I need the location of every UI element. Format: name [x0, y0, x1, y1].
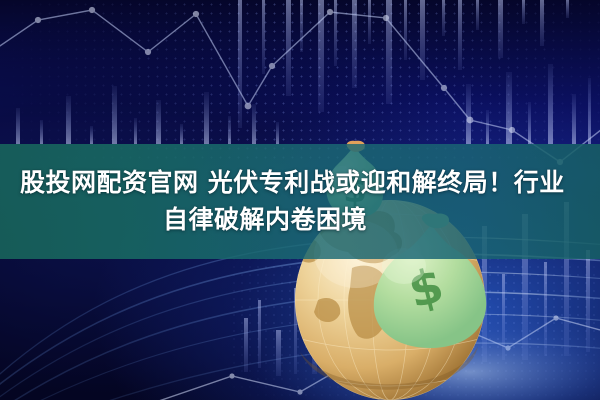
candlestick-chart-upper [16, 0, 591, 144]
headline-line-2: 自律破解内卷困境 [163, 203, 437, 238]
headline-block: 股投网配资官网 光伏专利战或迎和解终局！行业 自律破解内卷困境 [0, 144, 600, 259]
banner-image: $ $ 股投网配资官网 光伏专利战或迎和解终局！行业 自律破解内卷困境 [0, 0, 600, 400]
headline-line-1: 股投网配资官网 光伏专利战或迎和解终局！行业 [14, 166, 565, 201]
